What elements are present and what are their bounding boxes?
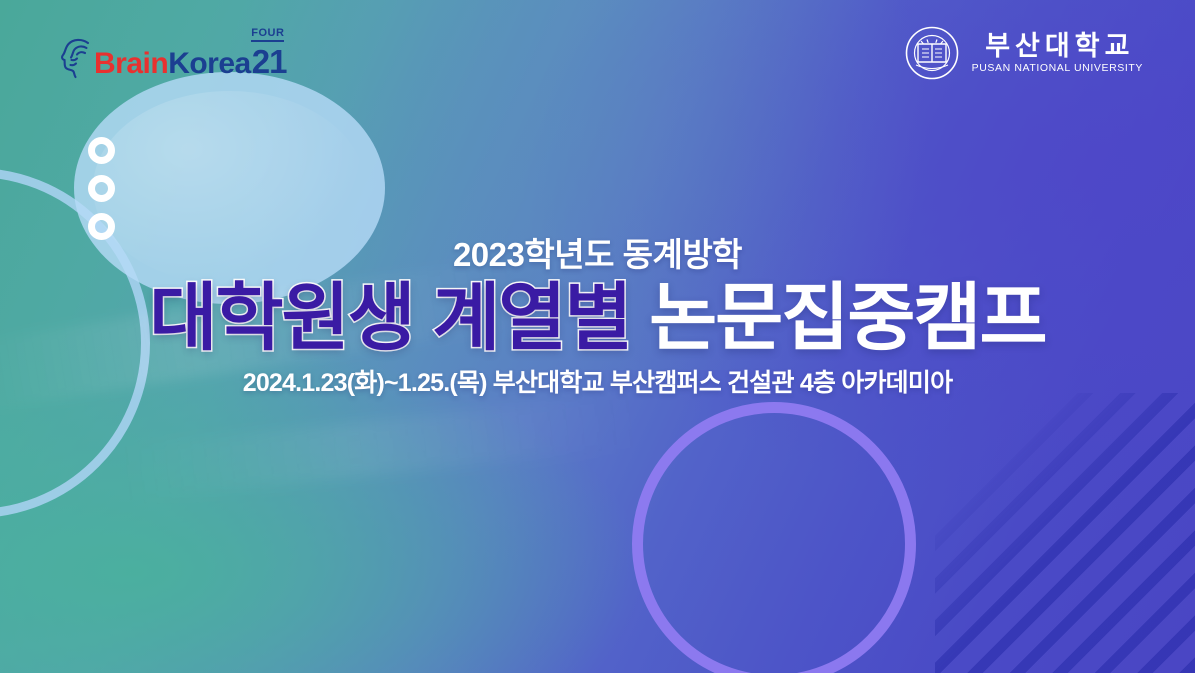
- diagonal-stripes-decoration: [935, 393, 1195, 673]
- pusan-national-university-logo: 부산대학교 PUSAN NATIONAL UNIVERSITY: [905, 26, 1143, 80]
- bk21-number-text: 21: [252, 45, 287, 78]
- bk21-four-logo: BrainKorea21 FOUR: [58, 33, 286, 79]
- brain-head-icon: [58, 37, 92, 79]
- university-seal-icon: [905, 26, 959, 80]
- title-part-white: 논문집중캠프: [649, 276, 1045, 359]
- poster-canvas: BrainKorea21 FOUR 부산대학교 PUSAN NATIONAL U…: [0, 0, 1195, 673]
- date-location-text: 2024.1.23(화)~1.25.(목) 부산대학교 부산캠퍼스 건설관 4층…: [0, 368, 1195, 398]
- eyebrow-text: 2023학년도 동계방학: [0, 236, 1195, 274]
- pnu-english-name: PUSAN NATIONAL UNIVERSITY: [972, 62, 1143, 75]
- pnu-wordmark: 부산대학교 PUSAN NATIONAL UNIVERSITY: [972, 32, 1143, 75]
- bk21-brain-text: Brain: [94, 49, 168, 79]
- page-title: 대학원생 계열별 논문집중캠프: [0, 280, 1195, 357]
- ring-dot-icon: [88, 175, 115, 202]
- bk21-wordmark: BrainKorea21 FOUR: [94, 45, 286, 79]
- title-part-purple: 대학원생 계열별: [149, 276, 630, 359]
- dot-group-decoration: [88, 137, 115, 240]
- bk21-korea-text: Korea: [168, 49, 251, 79]
- headline-block: 2023학년도 동계방학 대학원생 계열별 논문집중캠프 2024.1.23(화…: [0, 236, 1195, 398]
- bk21-four-text: FOUR: [251, 28, 284, 42]
- pnu-korean-name: 부산대학교: [980, 32, 1134, 60]
- ring-dot-icon: [88, 137, 115, 164]
- purple-ring-decoration: [632, 402, 916, 673]
